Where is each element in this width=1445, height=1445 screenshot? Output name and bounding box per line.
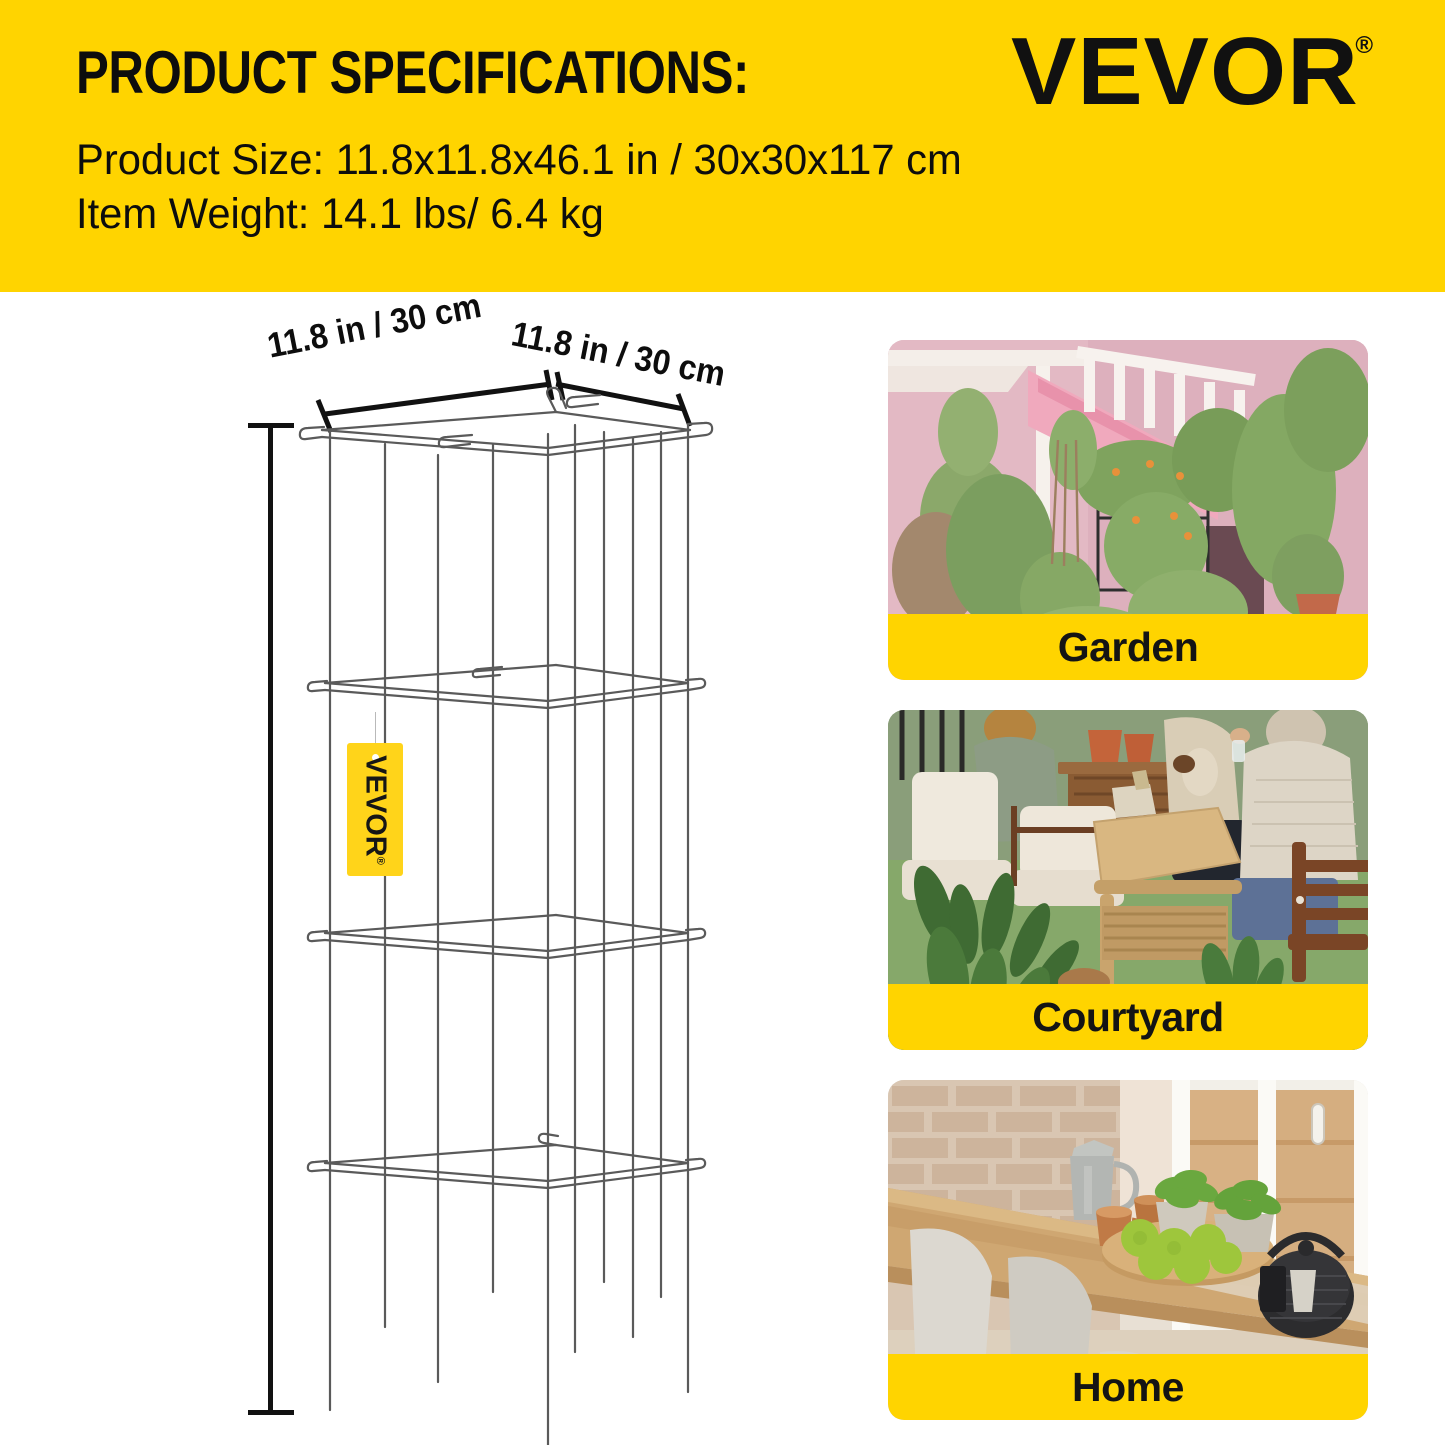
scene-card-garden[interactable]: Garden xyxy=(888,340,1368,680)
scene-caption-courtyard: Courtyard xyxy=(888,984,1368,1050)
spec-item-weight: Item Weight: 14.1 lbs/ 6.4 kg xyxy=(76,190,604,239)
scene-caption-home: Home xyxy=(888,1354,1368,1420)
scene-card-courtyard[interactable]: Courtyard xyxy=(888,710,1368,1050)
tomato-cage-illustration xyxy=(0,292,860,1445)
hang-tag-string xyxy=(375,712,376,746)
page-title: PRODUCT SPECIFICATIONS: xyxy=(76,38,749,107)
product-diagram: 11.8 in / 30 cm 11.8 in / 30 cm 46.1 in … xyxy=(0,292,860,1445)
vevor-logo: VEVOR ® xyxy=(1011,28,1373,114)
brand-wordmark: VEVOR xyxy=(1011,28,1359,116)
scene-card-home[interactable]: Home xyxy=(888,1080,1368,1420)
hang-tag-label: VEVOR® xyxy=(359,755,392,865)
header-banner: PRODUCT SPECIFICATIONS: Product Size: 11… xyxy=(0,0,1445,292)
vevor-hang-tag: VEVOR® xyxy=(347,743,403,876)
spec-product-size: Product Size: 11.8x11.8x46.1 in / 30x30x… xyxy=(76,136,962,185)
scene-caption-garden: Garden xyxy=(888,614,1368,680)
